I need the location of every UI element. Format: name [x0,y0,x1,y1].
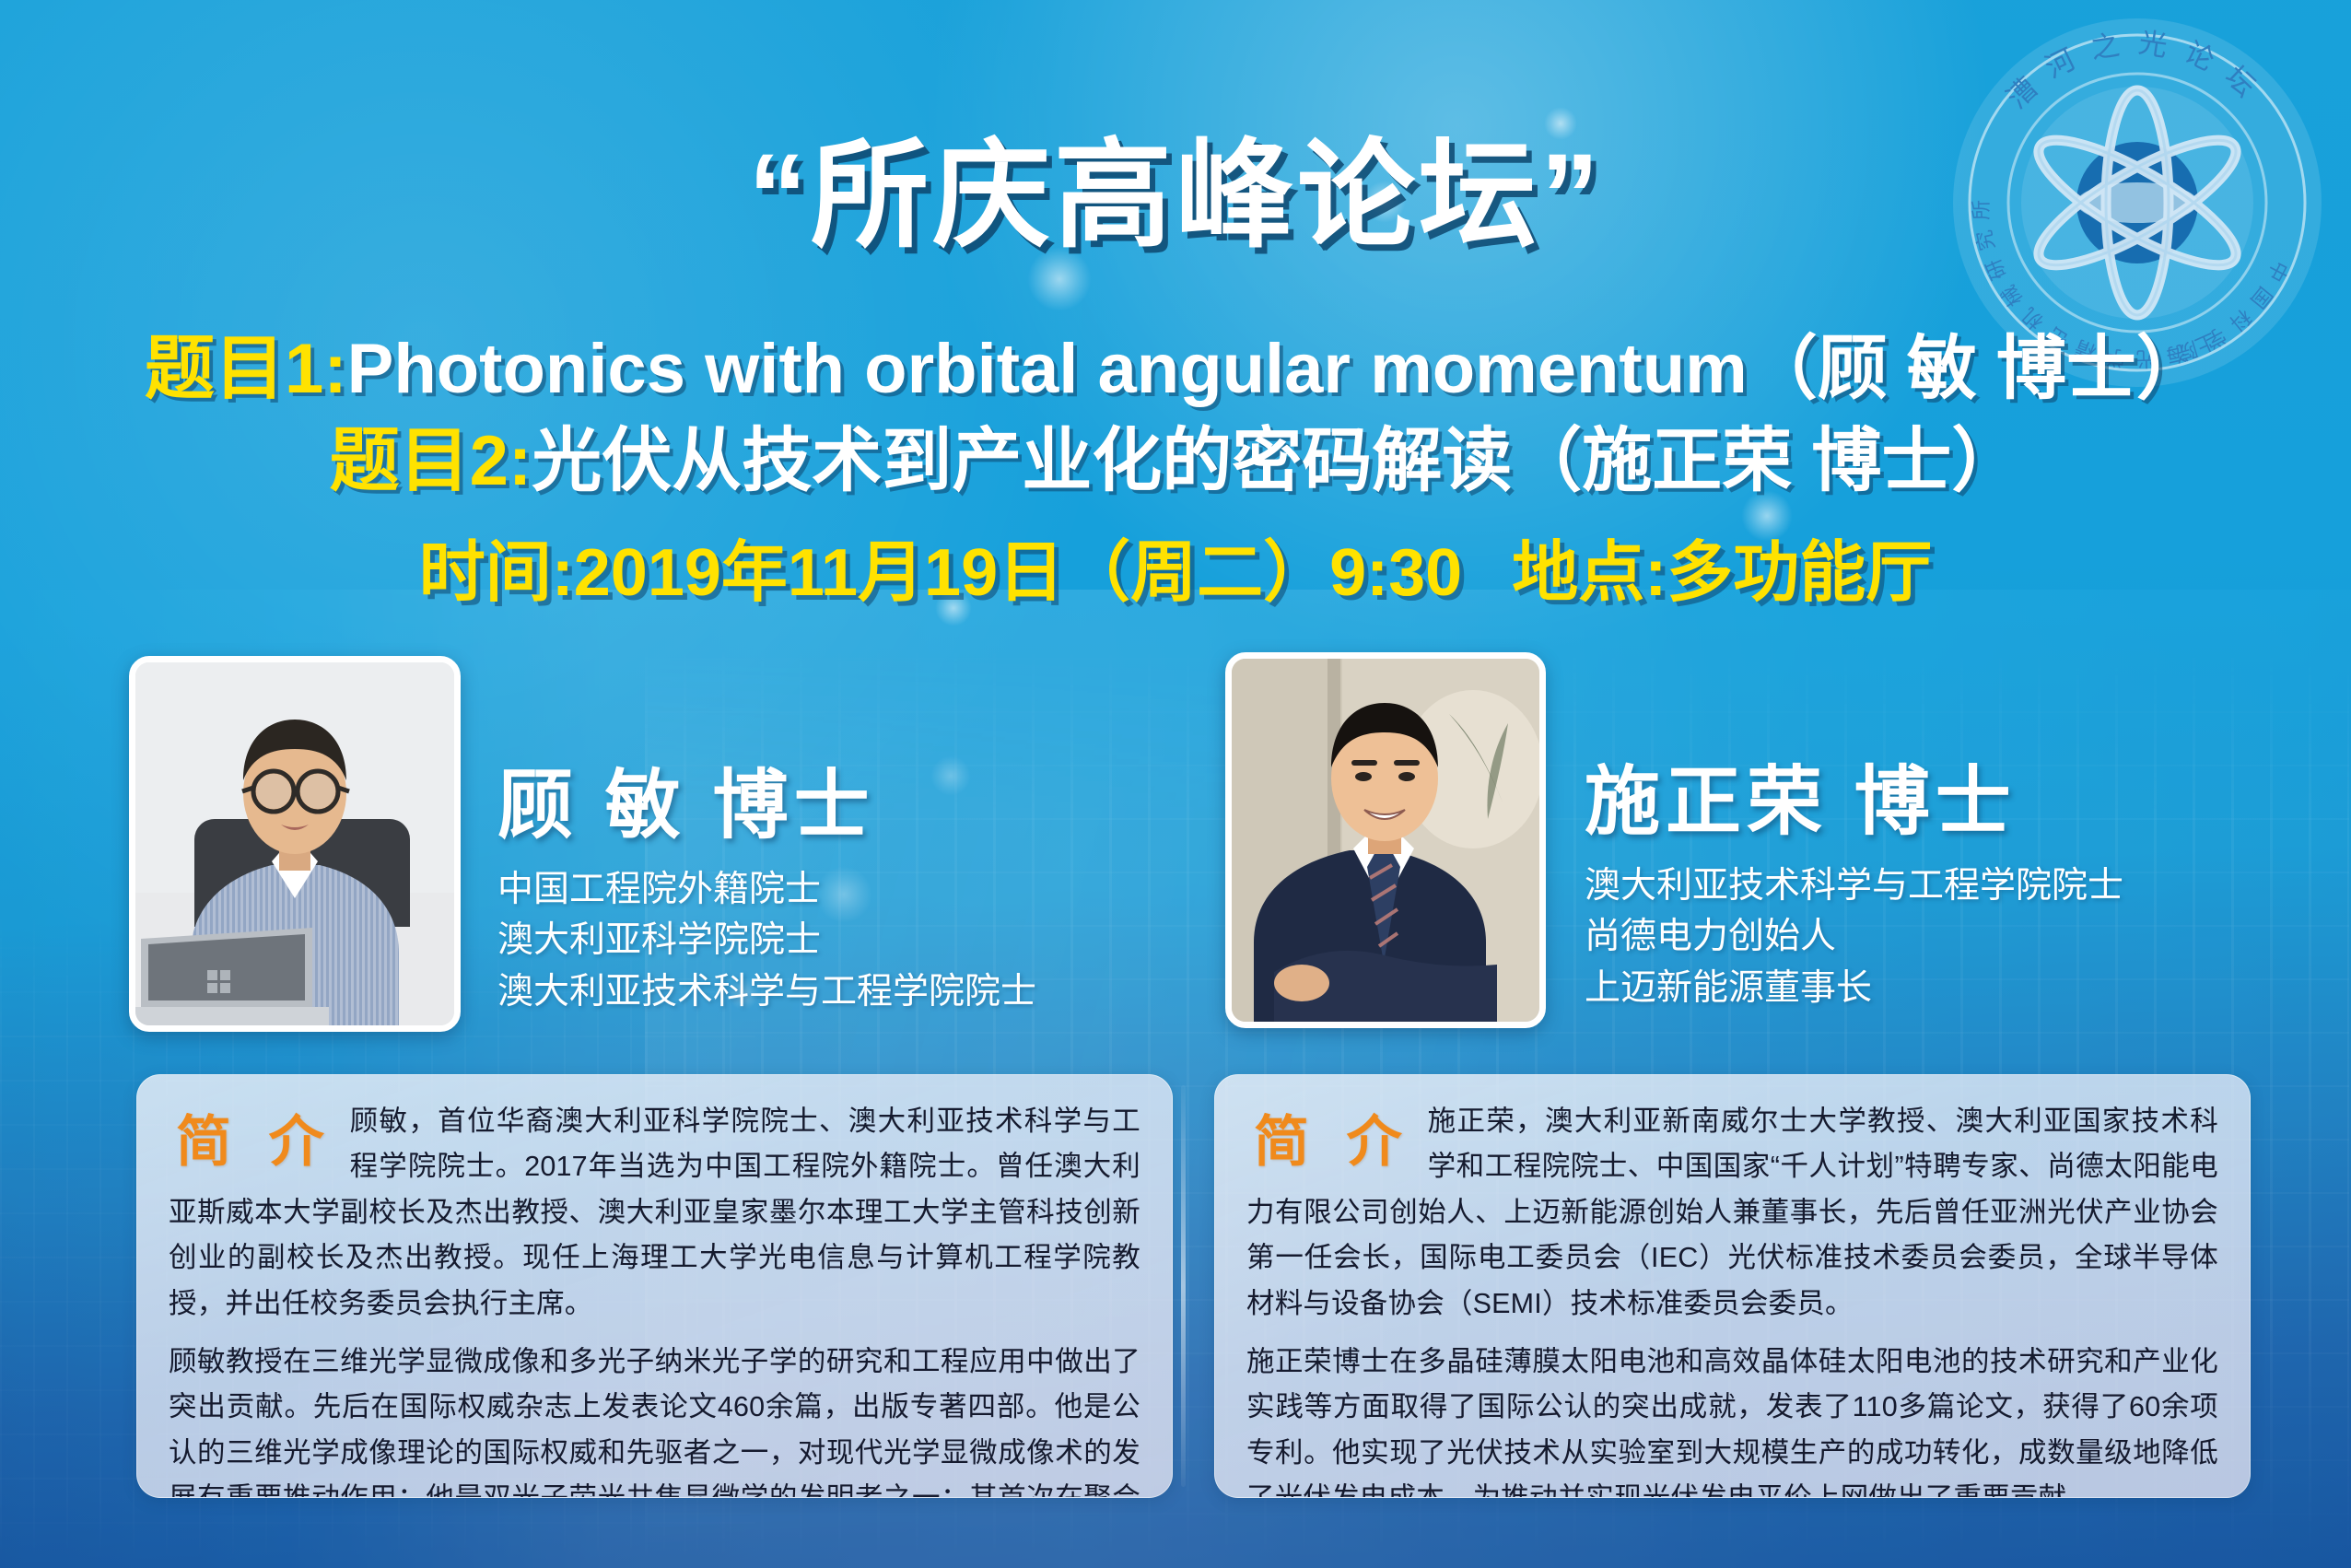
poster-root: 漕河之光论坛 中国科学院 上海光学精密机械研究所 “所庆高峰论坛” 题目1:Ph… [0,0,2351,1568]
speaker-1-info: 顾 敏 博士 中国工程院外籍院士 澳大利亚科学院院士 澳大利亚技术科学与工程学院… [497,766,1036,1017]
topic-1-text: Photonics with orbital angular momentum（… [347,330,2206,408]
topic-2-line: 题目2:光伏从技术到产业化的密码解读（施正荣 博士） [0,404,2351,505]
speaker-2-title-line: 尚德电力创始人 [1585,911,2123,962]
speaker-1-name: 顾 敏 博士 [497,766,1036,846]
bio-2-paragraph: 施正荣博士在多晶硅薄膜太阳电池和高效晶体硅太阳电池的技术研究和产业化实践等方面取… [1246,1340,2218,1498]
speaker-1-title-line: 中国工程院外籍院士 [497,864,1036,915]
topic-2-text: 光伏从技术到产业化的密码解读（施正荣 博士） [532,422,2021,500]
speaker-2-titles: 澳大利亚技术科学与工程学院院士 尚德电力创始人 上迈新能源董事长 [1585,860,2123,1013]
time-label: 时间: [419,536,574,610]
speaker-2-title-line: 澳大利亚技术科学与工程学院院士 [1585,860,2123,911]
speaker-1-photo [129,656,461,1032]
bio-1-paragraph: 顾敏教授在三维光学显微成像和多光子纳米光子学的研究和工程应用中做出了突出贡献。先… [169,1340,1140,1498]
topic-1-line: 题目1:Photonics with orbital angular momen… [0,311,2351,413]
speaker-1-titles: 中国工程院外籍院士 澳大利亚科学院院士 澳大利亚技术科学与工程学院院士 [497,864,1036,1017]
topic-1-label: 题目1: [145,330,347,408]
topic-2-label: 题目2: [330,422,532,500]
bio-panel-1: 简 介 顾敏，首位华裔澳大利亚科学院院士、澳大利亚技术科学与工程学院院士。201… [136,1074,1173,1498]
bio-1-label: 简 介 [176,1101,335,1184]
place-label: 地点: [1512,536,1667,610]
speaker-1-title-line: 澳大利亚科学院院士 [497,915,1036,965]
bio-panel-2: 简 介 施正荣，澳大利亚新南威尔士大学教授、澳大利亚国家技术科学和工程院院士、中… [1214,1074,2251,1498]
speaker-2-info: 施正荣 博士 澳大利亚技术科学与工程学院院士 尚德电力创始人 上迈新能源董事长 [1585,763,2123,1013]
bio-2-label: 简 介 [1254,1101,1413,1184]
speaker-2-name: 施正荣 博士 [1585,763,2123,842]
speaker-2-photo [1225,652,1546,1028]
time-and-place: 时间:2019年11月19日（周二）9:30地点:多功能厅 [0,518,2351,614]
place-value: 多功能厅 [1667,536,1932,610]
speaker-1-title-line: 澳大利亚技术科学与工程学院院士 [497,966,1036,1017]
speaker-2-title-line: 上迈新能源董事长 [1585,963,2123,1013]
page-title: “所庆高峰论坛” [0,99,2351,270]
bio-panel-divider [1181,1085,1186,1487]
time-value: 2019年11月19日（周二）9:30 [574,536,1462,610]
